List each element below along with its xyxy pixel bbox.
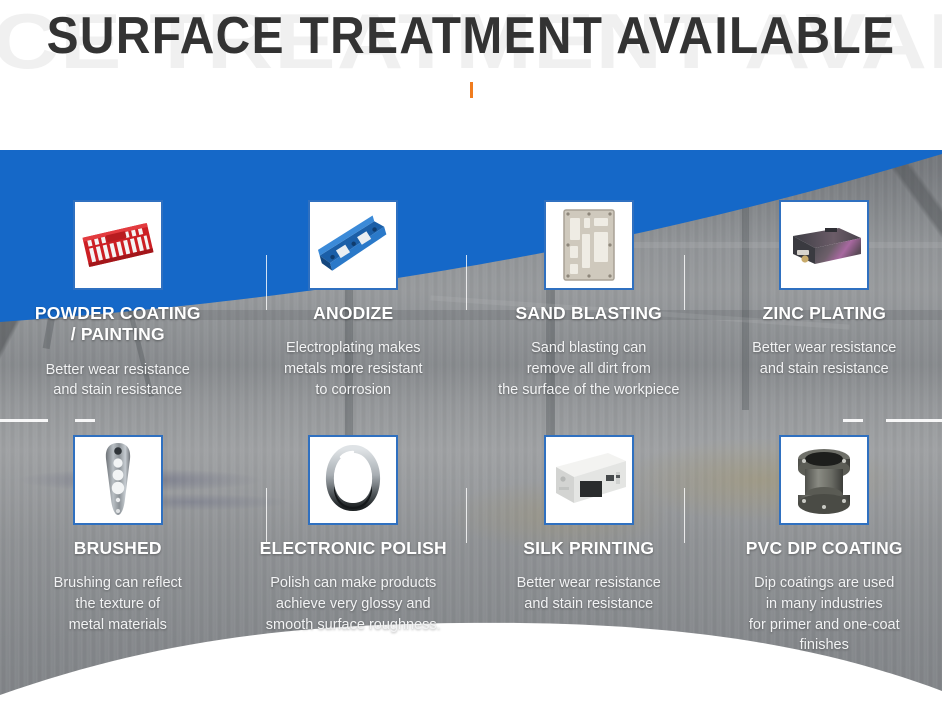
title-accent-tick <box>470 82 473 98</box>
anodize-image-tile <box>308 200 398 290</box>
row-divider-dash <box>886 419 942 422</box>
card-description: Better wear resistance and stain resista… <box>752 338 896 379</box>
row-divider-dash <box>843 419 863 422</box>
card-divider-vertical <box>466 255 467 310</box>
card-anodize[interactable]: ANODIZE Electroplating makes metals more… <box>236 200 472 445</box>
zinc-plating-image-tile <box>779 200 869 290</box>
card-description: Better wear resistance and stain resista… <box>46 360 190 401</box>
card-pvc-dip-coating[interactable]: PVC DIP COATING Dip coatings are used in… <box>707 435 942 680</box>
machined-plate-photo <box>546 202 632 288</box>
pvc-dip-coating-image-tile <box>779 435 869 525</box>
blue-anodized-bracket-photo <box>310 202 396 288</box>
card-divider-vertical <box>266 488 267 543</box>
red-perforated-tray-photo <box>75 202 161 288</box>
card-title: BRUSHED <box>74 538 162 559</box>
card-title: SILK PRINTING <box>523 538 654 559</box>
card-title: SAND BLASTING <box>516 303 663 324</box>
card-description: Electroplating makes metals more resista… <box>284 338 423 400</box>
zinc-plated-enclosure-photo <box>781 202 867 288</box>
card-divider-vertical <box>684 255 685 310</box>
card-description: Sand blasting can remove all dirt from t… <box>498 338 679 400</box>
card-title: PVC DIP COATING <box>746 538 903 559</box>
card-divider-vertical <box>266 255 267 310</box>
row-divider-dash <box>75 419 95 422</box>
card-description: Brushing can reflect the texture of meta… <box>54 573 182 635</box>
white-chassis-box-photo <box>546 437 632 523</box>
silk-printing-image-tile <box>544 435 634 525</box>
page-title: SURFACE TREATMENT AVAILABLE <box>47 8 896 65</box>
brushed-metal-lever-photo <box>75 437 161 523</box>
page-header: SURFACE TREATMENT AVAILABLE SURFACE TREA… <box>0 0 942 150</box>
surface-treatment-infographic: POWDER COATING / PAINTING Better wear re… <box>0 0 942 715</box>
sand-blasting-image-tile <box>544 200 634 290</box>
card-zinc-plating[interactable]: ZINC PLATING Better wear resistance and … <box>707 200 942 445</box>
powder-coating-image-tile <box>73 200 163 290</box>
electronic-polish-image-tile <box>308 435 398 525</box>
card-sand-blasting[interactable]: SAND BLASTING Sand blasting can remove a… <box>471 200 707 445</box>
treatment-card-grid: POWDER COATING / PAINTING Better wear re… <box>0 150 942 715</box>
card-description: Better wear resistance and stain resista… <box>517 573 661 614</box>
card-title: ELECTRONIC POLISH <box>260 538 447 559</box>
card-title: POWDER COATING / PAINTING <box>35 303 201 346</box>
card-title: ANODIZE <box>313 303 393 324</box>
card-description: Dip coatings are used in many industries… <box>749 573 900 655</box>
card-divider-vertical <box>684 488 685 543</box>
card-brushed[interactable]: BRUSHED Brushing can reflect the texture… <box>0 435 236 680</box>
card-divider-vertical <box>466 488 467 543</box>
row-divider-dash <box>0 419 48 422</box>
polished-ring-bezel-photo <box>310 437 396 523</box>
card-silk-printing[interactable]: SILK PRINTING Better wear resistance and… <box>471 435 707 680</box>
brushed-image-tile <box>73 435 163 525</box>
treatment-row-2: BRUSHED Brushing can reflect the texture… <box>0 435 942 680</box>
card-title: ZINC PLATING <box>762 303 886 324</box>
dip-coated-pipe-flange-photo <box>781 437 867 523</box>
card-description: Polish can make products achieve very gl… <box>266 573 441 635</box>
card-powder-coating[interactable]: POWDER COATING / PAINTING Better wear re… <box>0 200 236 445</box>
treatment-row-1: POWDER COATING / PAINTING Better wear re… <box>0 200 942 445</box>
card-electronic-polish[interactable]: ELECTRONIC POLISH Polish can make produc… <box>236 435 472 680</box>
